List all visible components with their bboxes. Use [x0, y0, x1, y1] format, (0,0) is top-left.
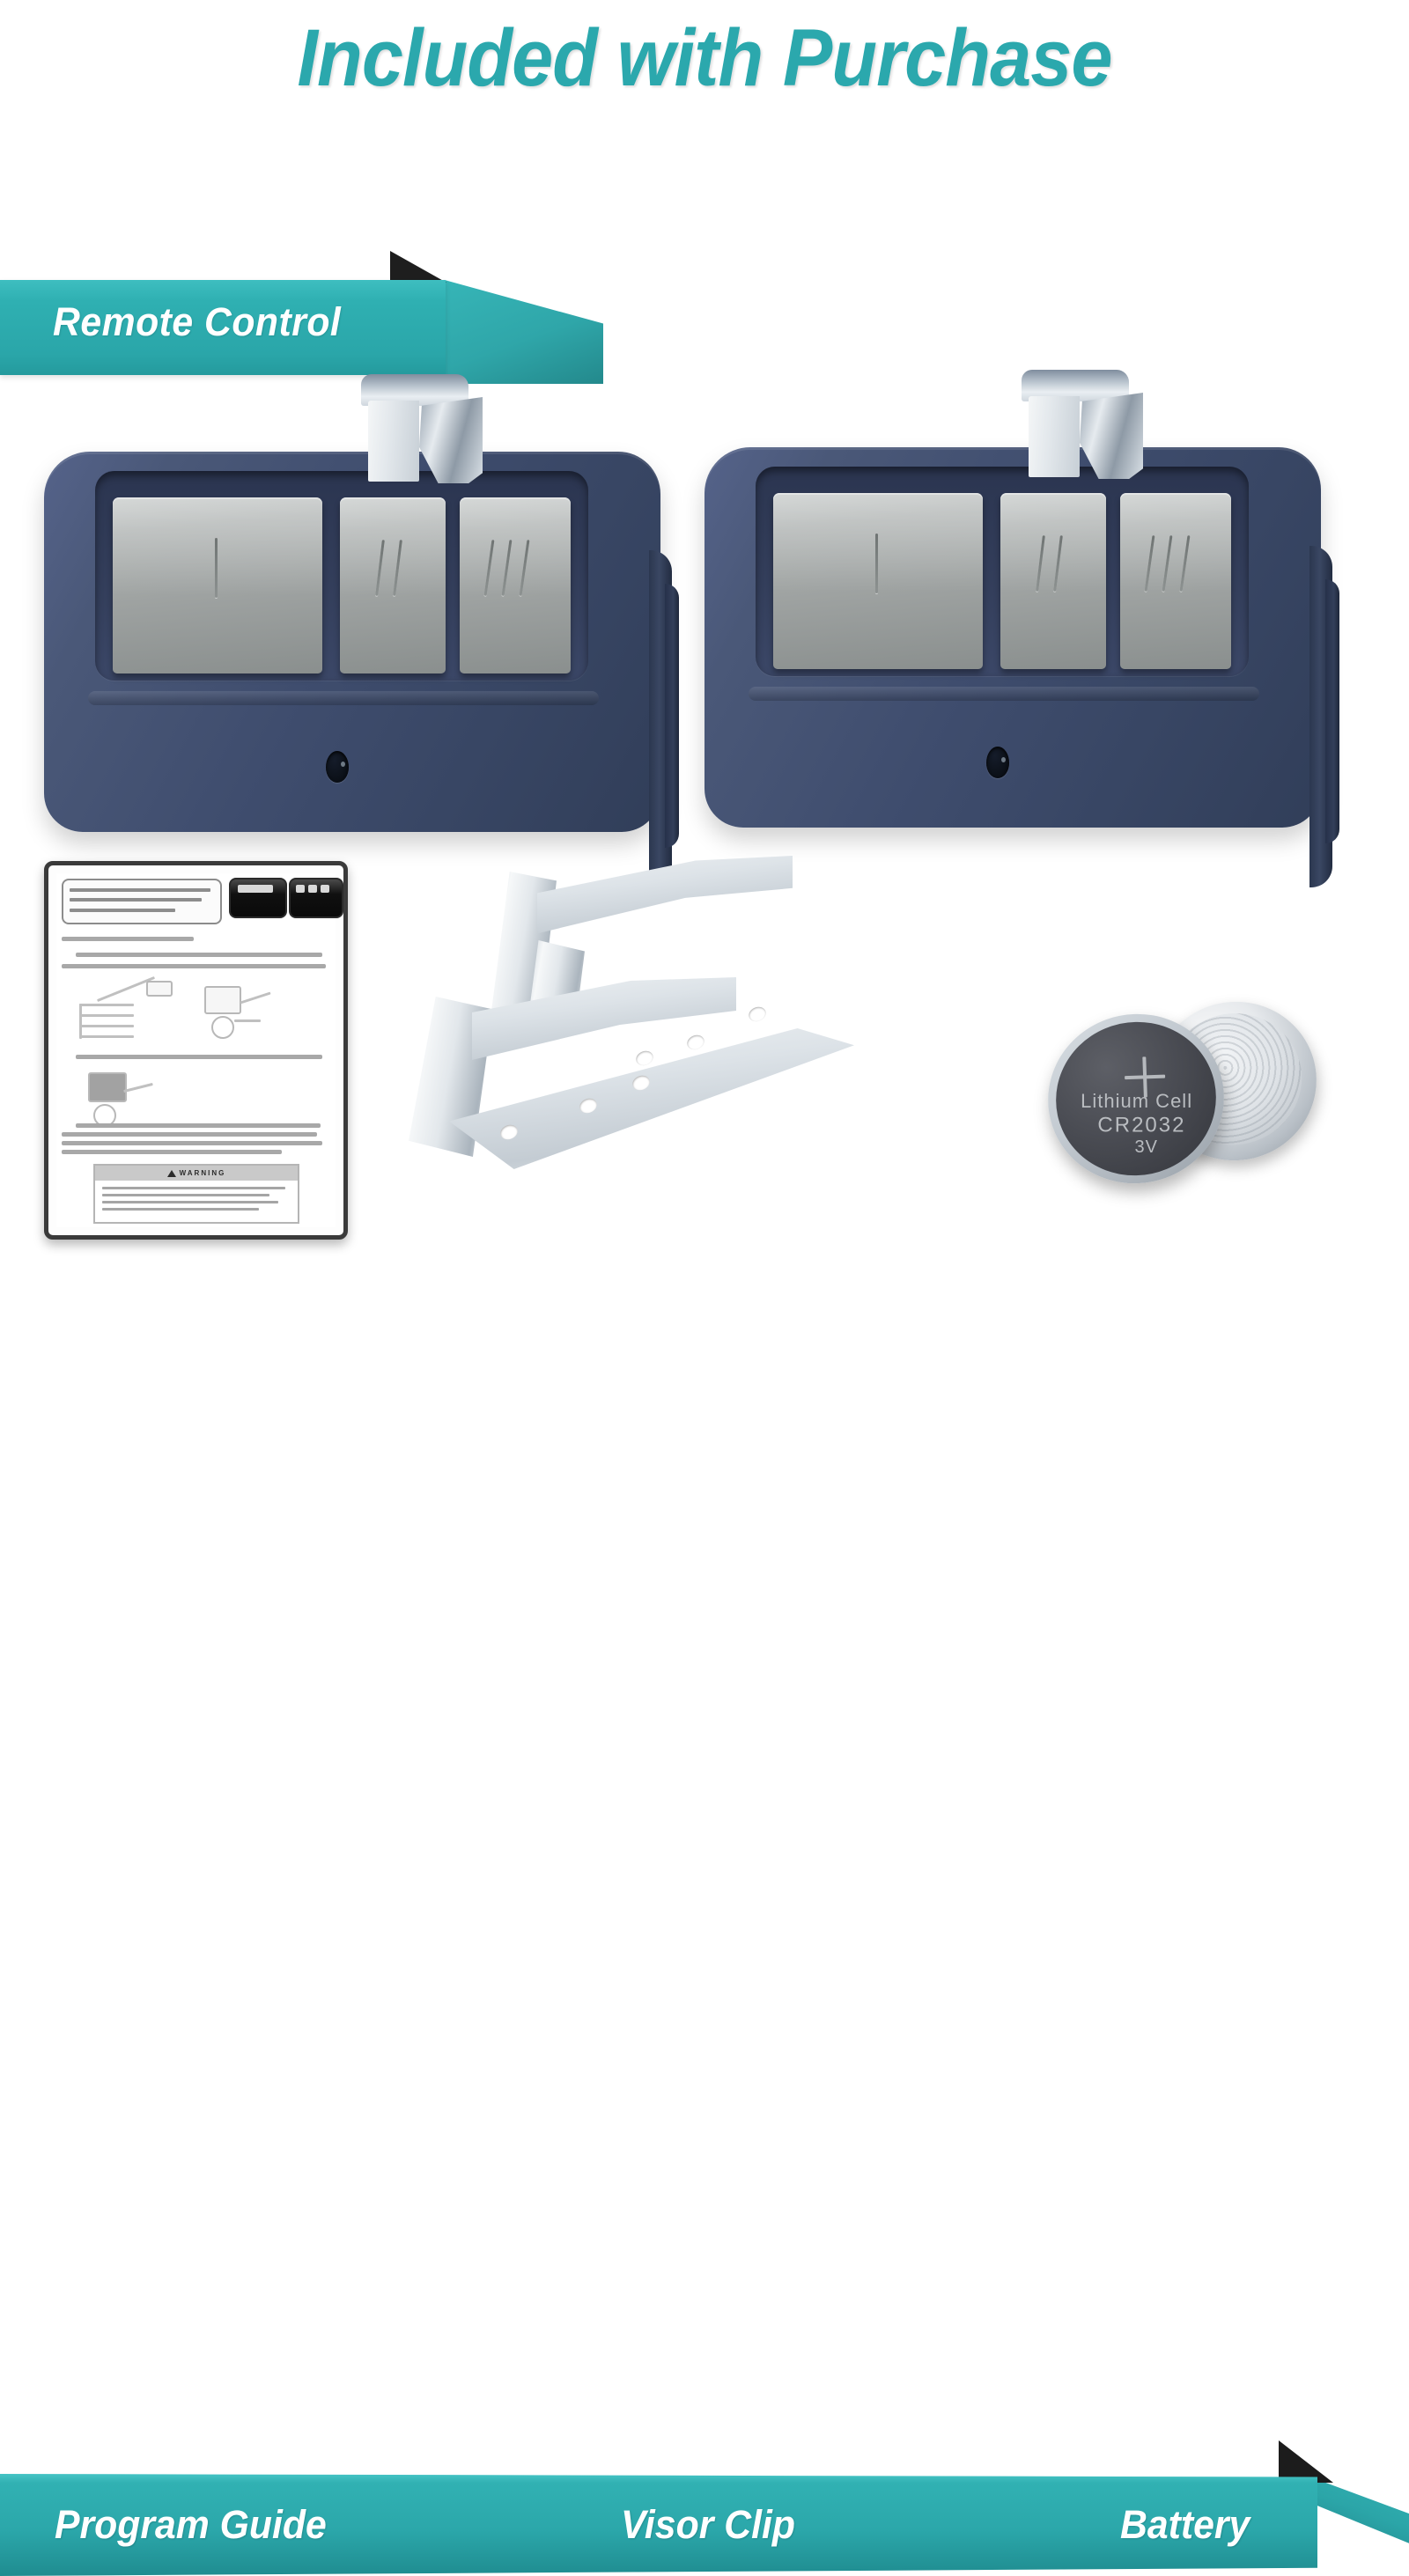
- guide-page: WARNING: [56, 873, 336, 1227]
- battery-model: CR2032: [1062, 1114, 1222, 1138]
- page-title: Included with Purchase: [56, 16, 1353, 101]
- remote-button-1[interactable]: [113, 497, 322, 673]
- door-2-icon: [1000, 493, 1106, 669]
- remote-side-edge-2: [665, 584, 679, 848]
- remote-button-well: [95, 471, 588, 681]
- ribbon-fold-shadow: [1279, 2440, 1333, 2483]
- product-infographic: Included with Purchase Remote Control: [0, 0, 1409, 1409]
- battery-group[interactable]: Lithium Cell CR2032 3V: [1048, 995, 1330, 1189]
- guide-figure-1: [79, 979, 176, 1049]
- remote-control-1[interactable]: [44, 374, 678, 832]
- program-guide-sheet[interactable]: WARNING: [44, 861, 348, 1240]
- remote-button-1[interactable]: [773, 493, 983, 669]
- remote-side-edge-2: [1325, 579, 1339, 843]
- ribbon-label-program-guide: Program Guide: [55, 2502, 327, 2548]
- battery-brand-line: Lithium Cell: [1057, 1089, 1217, 1112]
- guide-remote-illustration-2: [289, 878, 343, 918]
- clip-left-face: [1029, 396, 1080, 477]
- guide-header-box: [62, 879, 222, 924]
- ribbon-fold-shadow: [390, 251, 446, 283]
- remote-body-crease: [749, 687, 1259, 701]
- remote-led-indicator: [986, 747, 1009, 778]
- door-1-icon: [113, 497, 322, 673]
- remote-body-crease: [88, 691, 599, 705]
- guide-remote-illustration-1: [229, 878, 287, 918]
- ribbon-label-battery: Battery: [1120, 2502, 1250, 2548]
- door-2-icon: [340, 497, 446, 673]
- clip-hole: [747, 1005, 769, 1024]
- warning-label: WARNING: [180, 1169, 226, 1177]
- remote-button-3[interactable]: [1120, 493, 1231, 669]
- ribbon-remote-control: Remote Control: [0, 123, 616, 264]
- door-1-icon: [773, 493, 983, 669]
- guide-figure-2: [195, 981, 280, 1048]
- remote-button-3[interactable]: [460, 497, 571, 673]
- warning-triangle-icon: [167, 1170, 176, 1177]
- remote-button-2[interactable]: [340, 497, 446, 673]
- remote-button-2[interactable]: [1000, 493, 1106, 669]
- remote-button-well: [756, 467, 1249, 676]
- clip-left-face: [368, 401, 419, 482]
- ribbon-label-remote-control: Remote Control: [53, 299, 341, 345]
- ribbon-components: Program Guide Visor Clip Battery: [0, 1215, 1409, 1373]
- remote-led-indicator: [326, 751, 349, 783]
- door-3-icon: [1120, 493, 1231, 669]
- battery-voltage: 3V: [1066, 1137, 1227, 1158]
- warning-header: WARNING: [95, 1166, 298, 1181]
- ribbon-label-visor-clip: Visor Clip: [621, 2502, 795, 2548]
- door-3-icon: [460, 497, 571, 673]
- clip-hole: [634, 1049, 656, 1068]
- visor-clip-group[interactable]: [396, 845, 1066, 1233]
- remote-body: [44, 452, 660, 832]
- remote-control-2[interactable]: [704, 370, 1339, 828]
- clip-hole: [685, 1033, 707, 1052]
- ribbon-tail: [1314, 2478, 1409, 2550]
- remote-body: [704, 447, 1321, 828]
- ribbon-tail: [445, 280, 603, 384]
